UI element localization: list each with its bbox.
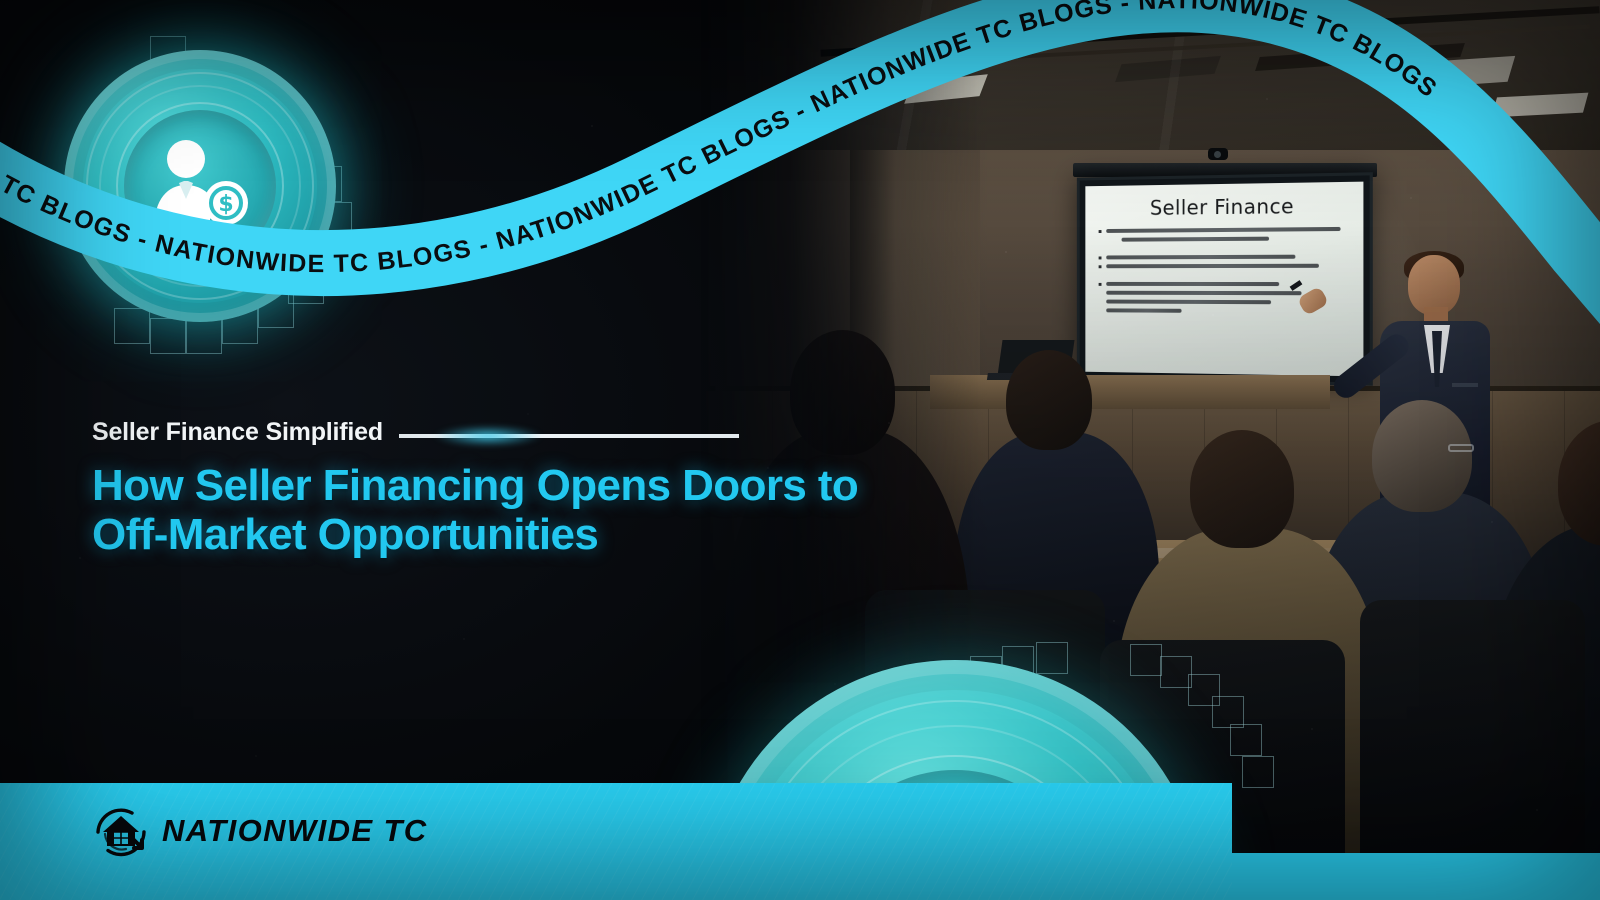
house-with-swoosh-arrow-icon — [92, 802, 150, 860]
brand-name: NATIONWIDE TC — [162, 813, 428, 849]
brand-logo[interactable]: NATIONWIDE TC — [92, 800, 428, 862]
banner-text-block: Seller Finance Simplified How Seller Fin… — [92, 418, 912, 560]
accent-line — [399, 434, 739, 438]
headline-line-1: How Seller Financing Opens Doors to — [92, 461, 858, 510]
headline-line-2: Off-Market Opportunities — [92, 510, 598, 559]
blog-banner: Seller Finance — [0, 0, 1600, 900]
footer-bar-right — [1232, 853, 1600, 900]
ribbon-banner: NATIONWIDE TC BLOGS - NATIONWIDE TC BLOG… — [0, 0, 1600, 340]
page-title: How Seller Financing Opens Doors to Off-… — [92, 461, 912, 560]
eyebrow-label: Seller Finance Simplified — [92, 418, 383, 447]
eyebrow-row: Seller Finance Simplified — [92, 418, 912, 447]
